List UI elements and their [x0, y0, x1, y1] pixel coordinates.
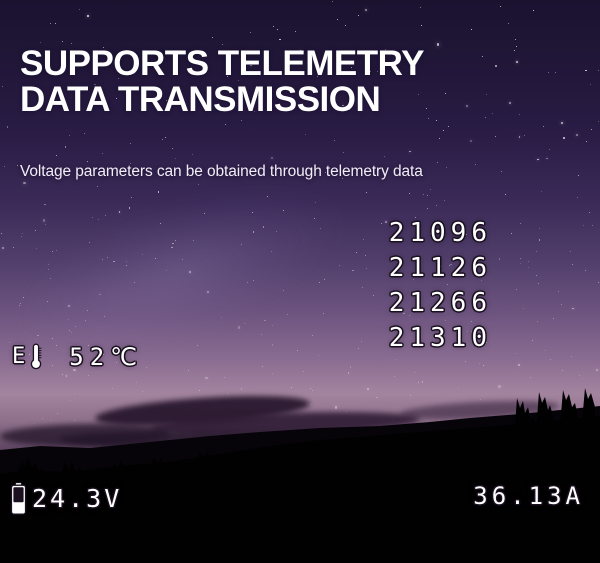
temperature-readout: E 52℃	[12, 342, 143, 372]
temperature-marker: E	[12, 346, 25, 368]
headline-line-2: DATA TRANSMISSION	[20, 82, 520, 118]
telemetry-reading: 21126	[389, 251, 492, 286]
headline-line-1: SUPPORTS TELEMETRY	[20, 44, 424, 83]
voltage-readout: 24.3V	[10, 482, 122, 515]
telemetry-reading: 21096	[389, 216, 492, 251]
temperature-value: 52℃	[69, 345, 143, 369]
page-subtitle: Voltage parameters can be obtained throu…	[20, 163, 423, 181]
current-value: 36.13A	[473, 482, 584, 510]
page-title: SUPPORTS TELEMETRY DATA TRANSMISSION	[20, 46, 520, 119]
telemetry-reading: 21310	[389, 321, 492, 356]
landscape-silhouette	[0, 388, 600, 563]
promo-banner: SUPPORTS TELEMETRY DATA TRANSMISSION Vol…	[0, 0, 600, 563]
telemetry-readings-list: 21096 21126 21266 21310	[389, 216, 492, 356]
telemetry-reading: 21266	[389, 286, 492, 321]
voltage-value: 24.3V	[32, 486, 122, 511]
battery-icon	[10, 482, 27, 515]
current-readout: 36.13A	[473, 484, 584, 509]
thermometer-icon	[29, 342, 43, 372]
